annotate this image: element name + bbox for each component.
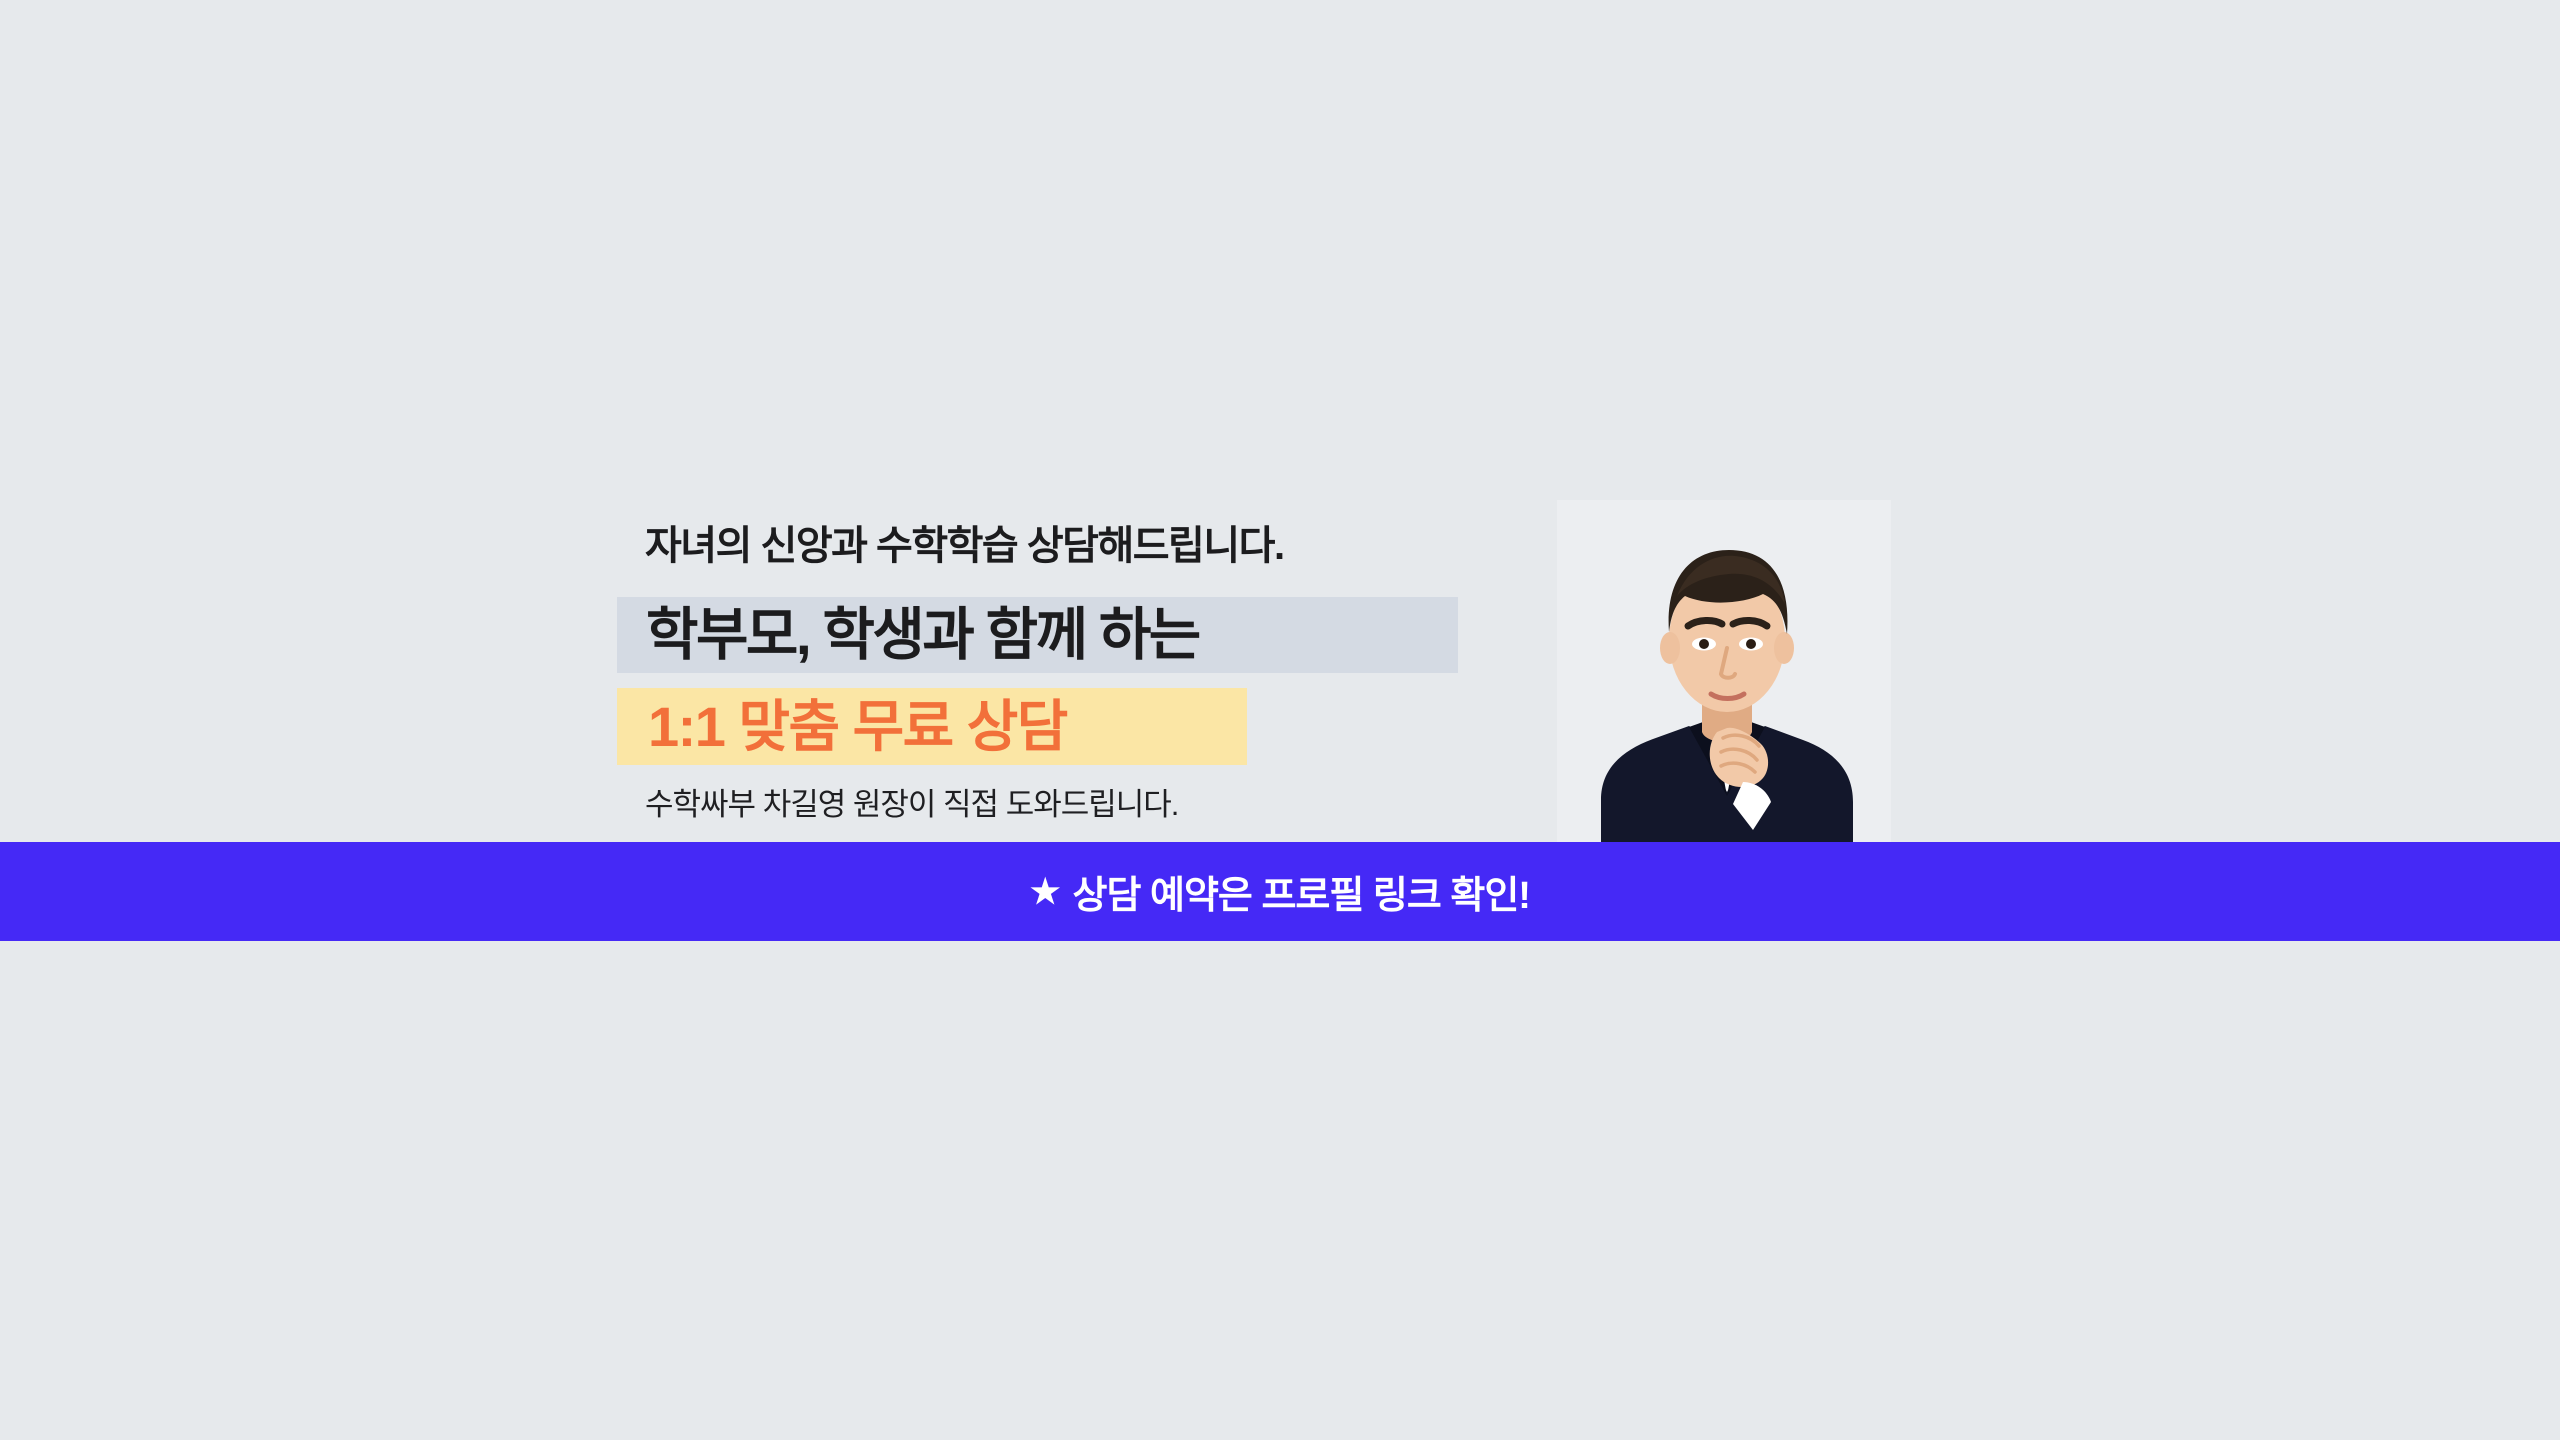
promo-subline: 수학싸부 차길영 원장이 직접 도와드립니다. (645, 786, 1178, 823)
headline-primary: 학부모, 학생과 함께 하는 (646, 598, 1446, 672)
cta-label: 상담 예약은 프로필 링크 확인! (1073, 864, 1530, 919)
cta-text-group: ★ 상담 예약은 프로필 링크 확인! (1030, 864, 1530, 919)
instructor-portrait (1557, 500, 1891, 842)
promo-banner: 자녀의 신앙과 수학학습 상담해드립니다. 학부모, 학생과 함께 하는 1:1… (0, 0, 2560, 1440)
promo-kicker: 자녀의 신앙과 수학학습 상담해드립니다. (645, 522, 1284, 570)
promo-content: 자녀의 신앙과 수학학습 상담해드립니다. 학부모, 학생과 함께 하는 1:1… (0, 0, 2560, 1440)
headline-secondary: 1:1 맞춤 무료 상담 (648, 689, 1248, 764)
portrait-illustration (1557, 500, 1891, 842)
cta-banner[interactable]: ★ 상담 예약은 프로필 링크 확인! (0, 842, 2560, 941)
star-icon: ★ (1030, 875, 1059, 909)
